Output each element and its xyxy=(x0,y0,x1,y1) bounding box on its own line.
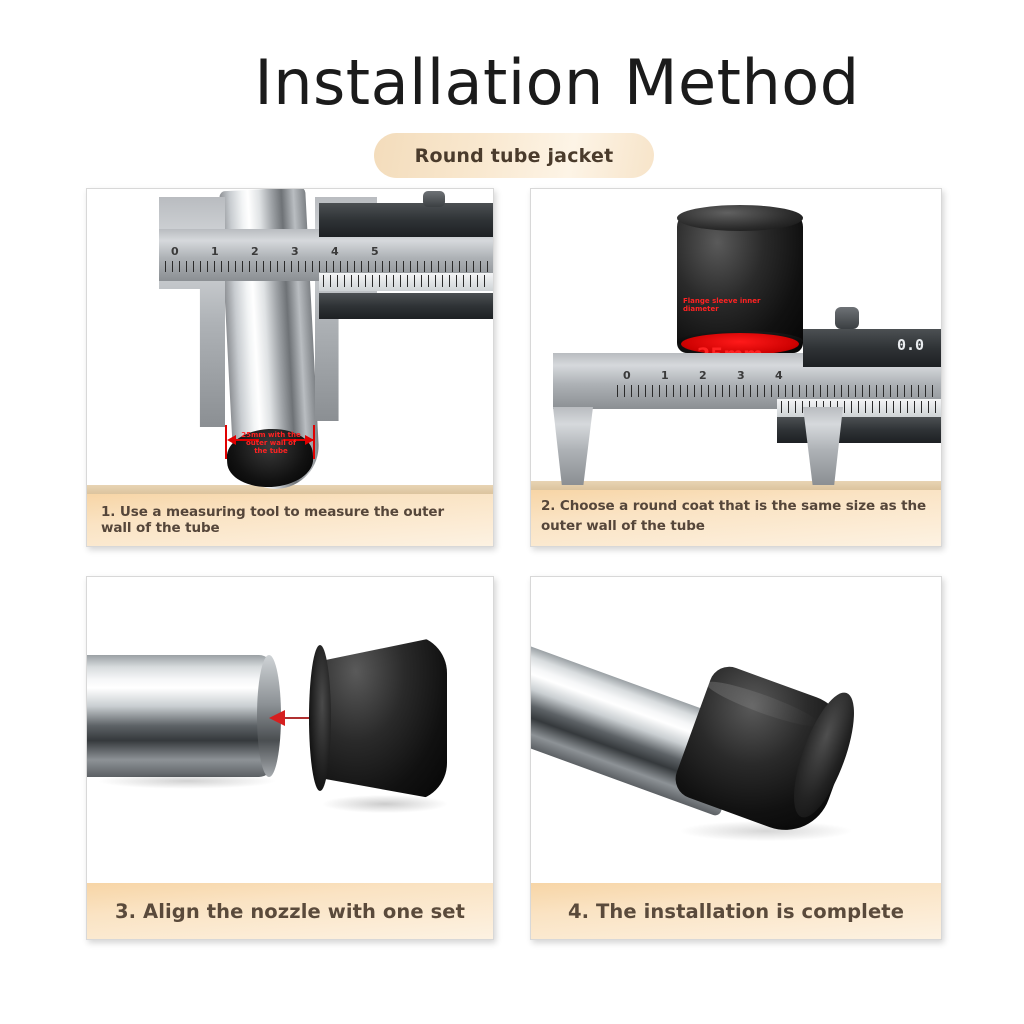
tube-shadow xyxy=(97,773,277,789)
scale-number-2: 2 xyxy=(251,245,259,258)
measure-annotation-line-2: outer wall of xyxy=(231,439,311,447)
cap-annotation-line-2: diameter xyxy=(683,305,793,313)
rubber-cap-shadow xyxy=(323,795,447,813)
measure-tick-left xyxy=(225,425,227,459)
align-arrow-head xyxy=(269,710,285,726)
scale-number-3: 3 xyxy=(737,369,745,382)
step-4-caption-text: 4. The installation is complete xyxy=(568,900,904,923)
step-2-caption-text: 2. Choose a round coat that is the same … xyxy=(541,496,931,536)
work-surface xyxy=(531,481,941,490)
step-panel-4: 4. The installation is complete xyxy=(530,576,942,940)
step-1-caption-text: 1. Use a measuring tool to measure the o… xyxy=(101,504,479,536)
step-4-caption-bar: 4. The installation is complete xyxy=(531,883,941,939)
caliper-reading: 0.0 xyxy=(897,336,924,354)
scale-number-0: 0 xyxy=(623,369,631,382)
caliper-thumb-screw xyxy=(835,307,859,329)
page-title: Installation Method xyxy=(0,46,1024,119)
measure-annotation-line-3: the tube xyxy=(231,447,311,455)
category-badge-label: Round tube jacket xyxy=(415,145,614,167)
measure-annotation-line-1: 25mm with the xyxy=(231,431,311,439)
caliper-main-ticks xyxy=(617,385,937,397)
step-1-caption-bar: 1. Use a measuring tool to measure the o… xyxy=(87,494,493,546)
step-2-caption-bar: 2. Choose a round coat that is the same … xyxy=(531,490,941,546)
step-panel-3: 3. Align the nozzle with one set xyxy=(86,576,494,940)
caliper-main-ticks xyxy=(165,261,491,272)
scale-number-2: 2 xyxy=(699,369,707,382)
rubber-cap-open-end xyxy=(309,645,331,791)
caliper-thumb-screw xyxy=(423,191,445,207)
scale-number-5: 5 xyxy=(371,245,379,258)
step-3-caption-text: 3. Align the nozzle with one set xyxy=(115,900,465,923)
assembly-shadow xyxy=(681,821,851,841)
caliper-fixed-jaw xyxy=(553,407,593,485)
page-title-text: Installation Method xyxy=(164,46,859,119)
caliper-vernier-ticks xyxy=(323,275,489,287)
category-badge: Round tube jacket xyxy=(374,133,654,178)
steel-tube xyxy=(86,655,273,777)
caliper-lower-rail xyxy=(319,293,493,319)
step-panel-2: Flange sleeve inner diameter 25mm 0 1 2 … xyxy=(530,188,942,547)
step-panel-1: 0 1 2 3 4 5 25mm with the outer wall of … xyxy=(86,188,494,547)
caliper-lower-rail xyxy=(777,417,941,443)
rubber-cap xyxy=(313,635,447,801)
scale-number-0: 0 xyxy=(171,245,179,258)
scale-number-4: 4 xyxy=(775,369,783,382)
cap-annotation-line-1: Flange sleeve inner xyxy=(683,297,793,305)
caliper-sliding-jaw xyxy=(803,407,843,485)
step-3-caption-bar: 3. Align the nozzle with one set xyxy=(87,883,493,939)
step-1-photo: 0 1 2 3 4 5 25mm with the outer wall of … xyxy=(87,189,493,546)
rubber-cap-top-ellipse xyxy=(677,205,803,231)
cap-annotation: Flange sleeve inner diameter xyxy=(683,297,793,313)
caliper-slider-block xyxy=(319,203,493,237)
scale-number-1: 1 xyxy=(211,245,219,258)
scale-number-3: 3 xyxy=(291,245,299,258)
scale-number-4: 4 xyxy=(331,245,339,258)
scale-number-1: 1 xyxy=(661,369,669,382)
measure-tick-right xyxy=(313,425,315,459)
measure-annotation: 25mm with the outer wall of the tube xyxy=(231,431,311,455)
